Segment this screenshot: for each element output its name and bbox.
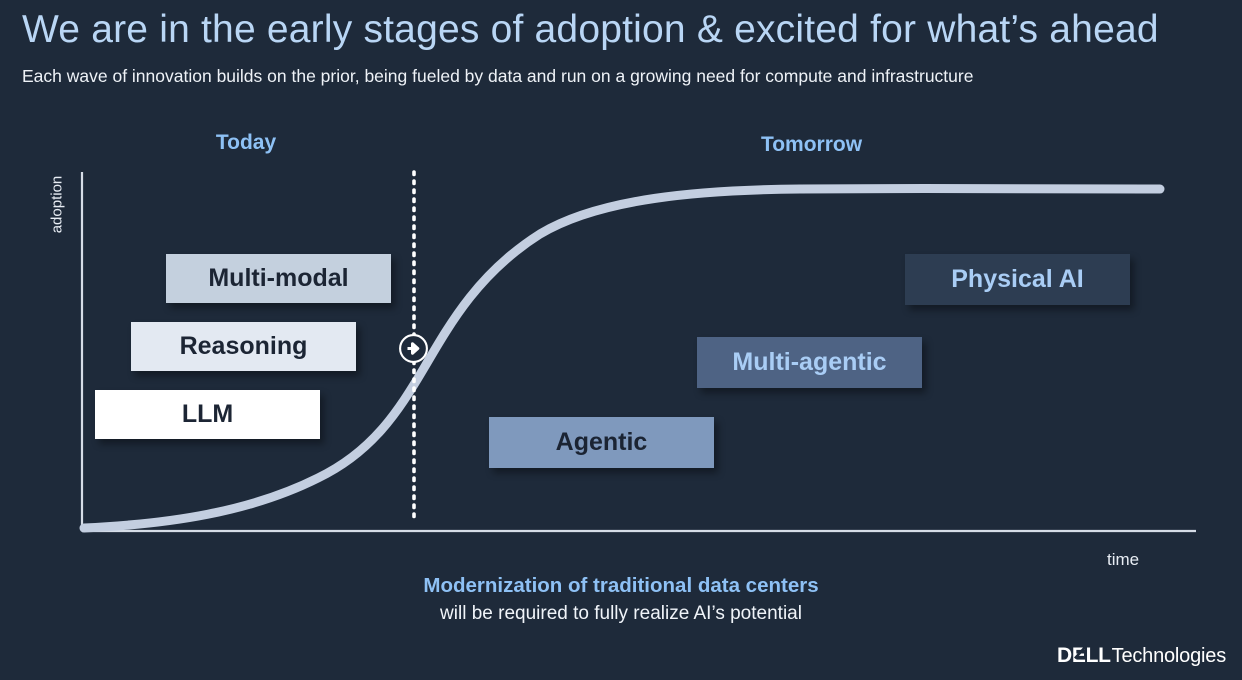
slide-root: We are in the early stages of adoption &…	[0, 0, 1242, 680]
footer-callout-subline: will be required to fully realize AI’s p…	[0, 600, 1242, 628]
wave-box-llm[interactable]: LLM	[95, 390, 320, 439]
wave-box-multi-modal[interactable]: Multi-modal	[166, 254, 391, 303]
phase-label-today: Today	[186, 131, 306, 155]
wave-box-physical-ai[interactable]: Physical AI	[905, 254, 1130, 305]
dell-letter-d: D	[1057, 644, 1072, 667]
phase-label-tomorrow: Tomorrow	[730, 133, 893, 157]
footer-callout: Modernization of traditional data center…	[0, 572, 1242, 628]
dell-letters-ll: LL	[1086, 644, 1111, 667]
wave-box-multi-agentic[interactable]: Multi-agentic	[697, 337, 922, 388]
dell-wordmark: DELL	[1057, 645, 1111, 666]
wave-box-reasoning[interactable]: Reasoning	[131, 322, 356, 371]
wave-box-agentic[interactable]: Agentic	[489, 417, 714, 468]
dell-letter-e-slashed: E	[1072, 645, 1086, 666]
dell-technologies-suffix: Technologies	[1112, 646, 1226, 666]
bottom-microtext	[0, 672, 1242, 680]
y-axis-label: adoption	[49, 145, 66, 265]
transition-arrow-icon	[398, 333, 429, 364]
footer-callout-headline: Modernization of traditional data center…	[0, 572, 1242, 600]
dell-technologies-logo: DELL Technologies	[1057, 645, 1226, 666]
x-axis-label: time	[1107, 550, 1217, 570]
dell-letter-e-glyph: E	[1072, 644, 1086, 667]
